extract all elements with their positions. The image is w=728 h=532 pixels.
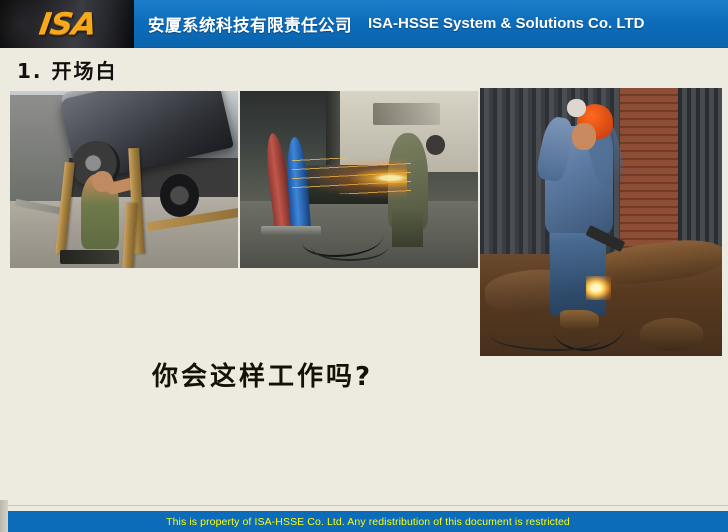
photo-grind-hose-2 xyxy=(311,233,387,261)
photo-grind-worker-head xyxy=(426,135,445,154)
photo-torch-pipe-corner xyxy=(640,318,703,350)
company-name-chinese: 安厦系统科技有限责任公司 xyxy=(148,12,352,36)
photo-car-rear-wheel xyxy=(160,174,199,216)
copyright-notice: This is property of ISA-HSSE Co. Ltd. An… xyxy=(166,516,570,528)
footer-bar: This is property of ISA-HSSE Co. Ltd. An… xyxy=(8,511,728,532)
photo-torch-brick-wall xyxy=(620,88,683,254)
slide-header: ISA 安厦系统科技有限责任公司 ISA-HSSE System & Solut… xyxy=(0,0,728,48)
photo-grind-wall-sign xyxy=(373,103,440,124)
photo-grind-worker-legs xyxy=(392,208,423,247)
photo-torch-flame xyxy=(586,276,610,300)
slide-canvas: ISA 安厦系统科技有限责任公司 ISA-HSSE System & Solut… xyxy=(0,0,728,532)
photo-car-tools xyxy=(60,250,119,264)
header-title-bar: 安厦系统科技有限责任公司 ISA-HSSE System & Solutions… xyxy=(134,0,728,48)
photo-torch-cutting-no-face-shield xyxy=(480,88,722,356)
photo-grinding-sparks-gas-cylinders xyxy=(240,91,478,268)
left-rail xyxy=(0,500,8,532)
footer-divider xyxy=(0,505,728,506)
isa-logo-icon: ISA xyxy=(36,7,97,42)
photo-torch-corrugated-wall-right xyxy=(678,88,722,254)
logo-block: ISA xyxy=(0,0,134,48)
section-heading: 1. 开场白 xyxy=(17,55,117,84)
photo-grind-spark-core xyxy=(297,155,406,201)
photo-torch-worker-face xyxy=(572,123,596,150)
company-name-english: ISA-HSSE System & Solutions Co. LTD xyxy=(368,15,644,32)
center-question-text: 你会这样工作吗? xyxy=(152,356,373,393)
photo-car-on-wooden-props xyxy=(10,91,238,268)
